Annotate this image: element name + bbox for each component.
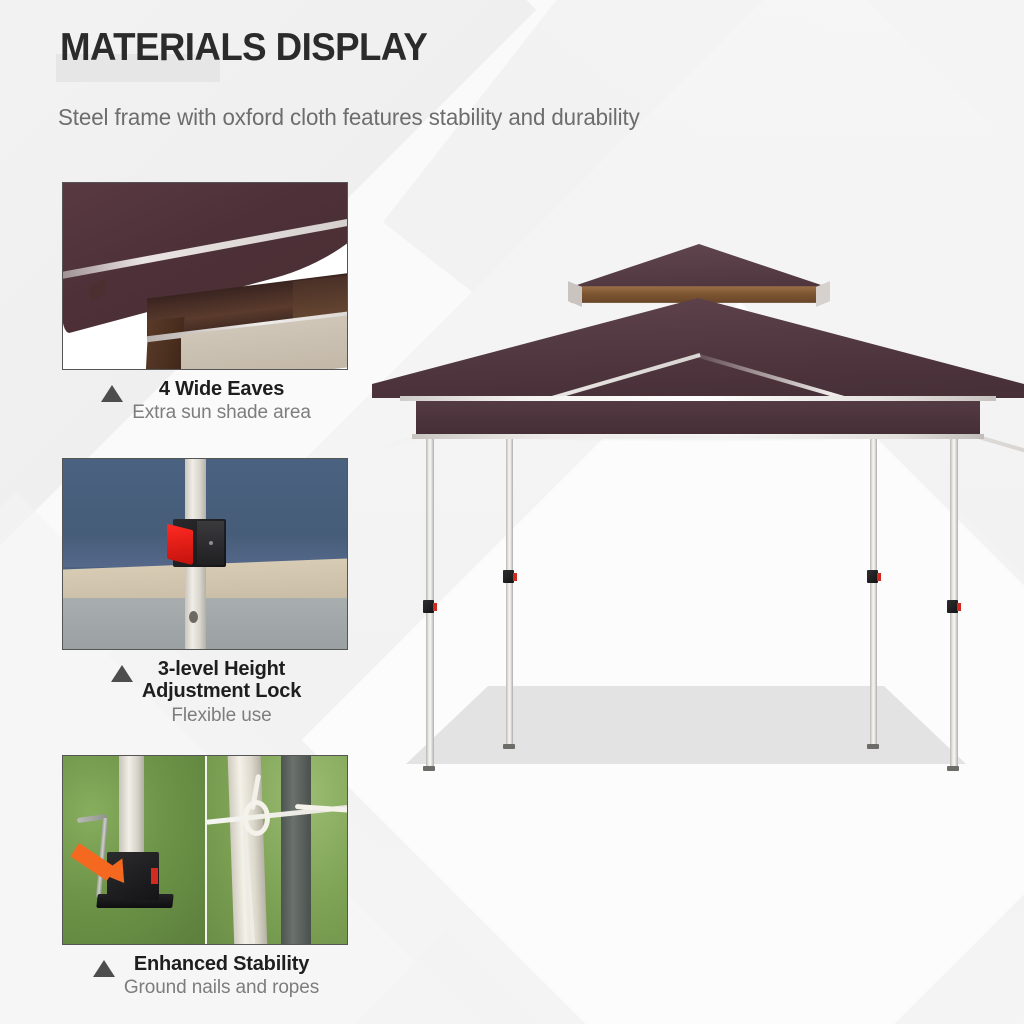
- feature-subtitle: Extra sun shade area: [132, 401, 311, 424]
- lock-red-lever: [167, 524, 193, 565]
- feature-card-wide-eaves: 4 Wide Eaves Extra sun shade area: [62, 182, 350, 425]
- canopy-main-roof: [372, 298, 1024, 398]
- feature-image-height-lock: [62, 458, 348, 650]
- leg-foot-front-right: [947, 766, 959, 771]
- canopy-shadow: [492, 432, 912, 442]
- leg-lock-red-back-left: [513, 573, 517, 581]
- leg-lock-red-back-right: [877, 573, 881, 581]
- feature-title: 3-level Height Adjustment Lock: [142, 658, 301, 703]
- lock-pole-hole: [189, 611, 198, 623]
- canopy-valance: [416, 401, 980, 435]
- page-title-wrap: MATERIALS DISPLAY: [60, 28, 451, 67]
- page-title: MATERIALS DISPLAY: [60, 28, 427, 67]
- leg-foot-back-left: [503, 744, 515, 749]
- leg-foot-front-left: [423, 766, 435, 771]
- canopy-upper-roof-fabric: [568, 244, 830, 288]
- feature-title: Enhanced Stability: [124, 953, 319, 975]
- gazebo-leg-back-left: [506, 432, 513, 746]
- feature-caption-height-lock: 3-level Height Adjustment Lock Flexible …: [62, 650, 350, 727]
- feature-subtitle: Flexible use: [142, 704, 301, 727]
- caption-text-block: Enhanced Stability Ground nails and rope…: [124, 953, 319, 1000]
- triangle-up-icon: [101, 385, 123, 402]
- dark-pole: [281, 756, 311, 944]
- triangle-up-icon: [111, 665, 133, 682]
- leg-foot-back-right: [867, 744, 879, 749]
- canopy-upper-roof: [568, 244, 830, 288]
- feature-caption-wide-eaves: 4 Wide Eaves Extra sun shade area: [62, 370, 350, 425]
- caption-text-block: 4 Wide Eaves Extra sun shade area: [132, 378, 311, 425]
- feature-title: 4 Wide Eaves: [132, 378, 311, 400]
- gazebo-leg-back-right: [870, 432, 877, 746]
- feature-caption-stability: Enhanced Stability Ground nails and rope…: [62, 945, 350, 1000]
- feature-image-stability: [62, 755, 348, 945]
- leg-lock-red-front-right: [957, 603, 961, 611]
- product-image-gazebo: [372, 236, 1024, 776]
- feature-card-height-lock: 3-level Height Adjustment Lock Flexible …: [62, 458, 350, 727]
- stability-photo-left: [63, 756, 205, 944]
- leg-lock-red-front-left: [433, 603, 437, 611]
- stability-photo-right: [205, 756, 348, 944]
- feature-subtitle: Ground nails and ropes: [124, 976, 319, 999]
- page-subtitle: Steel frame with oxford cloth features s…: [58, 104, 640, 131]
- guy-rope-knot: [243, 800, 270, 836]
- canopy-main-roof-fabric: [372, 298, 1024, 398]
- feature-image-wide-eaves: [62, 182, 348, 370]
- eave-corner-post: [146, 317, 185, 370]
- triangle-up-icon: [93, 960, 115, 977]
- feature-card-stability: Enhanced Stability Ground nails and rope…: [62, 755, 350, 1000]
- lock-pin: [209, 541, 213, 545]
- leg-foot-red-accent: [151, 868, 158, 884]
- ground-plane: [406, 686, 966, 764]
- caption-text-block: 3-level Height Adjustment Lock Flexible …: [142, 658, 301, 727]
